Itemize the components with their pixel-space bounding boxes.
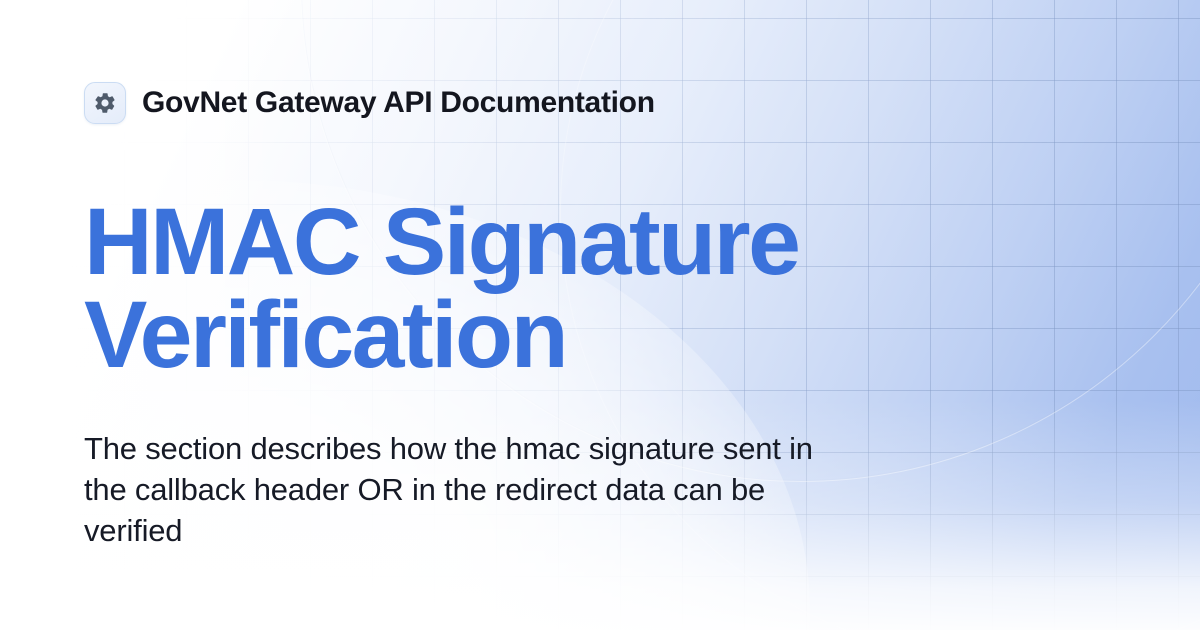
brand-name: GovNet Gateway API Documentation [142,88,655,118]
gear-icon [93,91,117,115]
gear-icon-badge [84,82,126,124]
brand-row: GovNet Gateway API Documentation [84,82,655,124]
page-title: HMAC Signature Verification [84,196,864,382]
og-card: GovNet Gateway API Documentation HMAC Si… [0,0,1200,630]
content-column: GovNet Gateway API Documentation HMAC Si… [84,0,864,630]
page-description: The section describes how the hmac signa… [84,428,844,551]
